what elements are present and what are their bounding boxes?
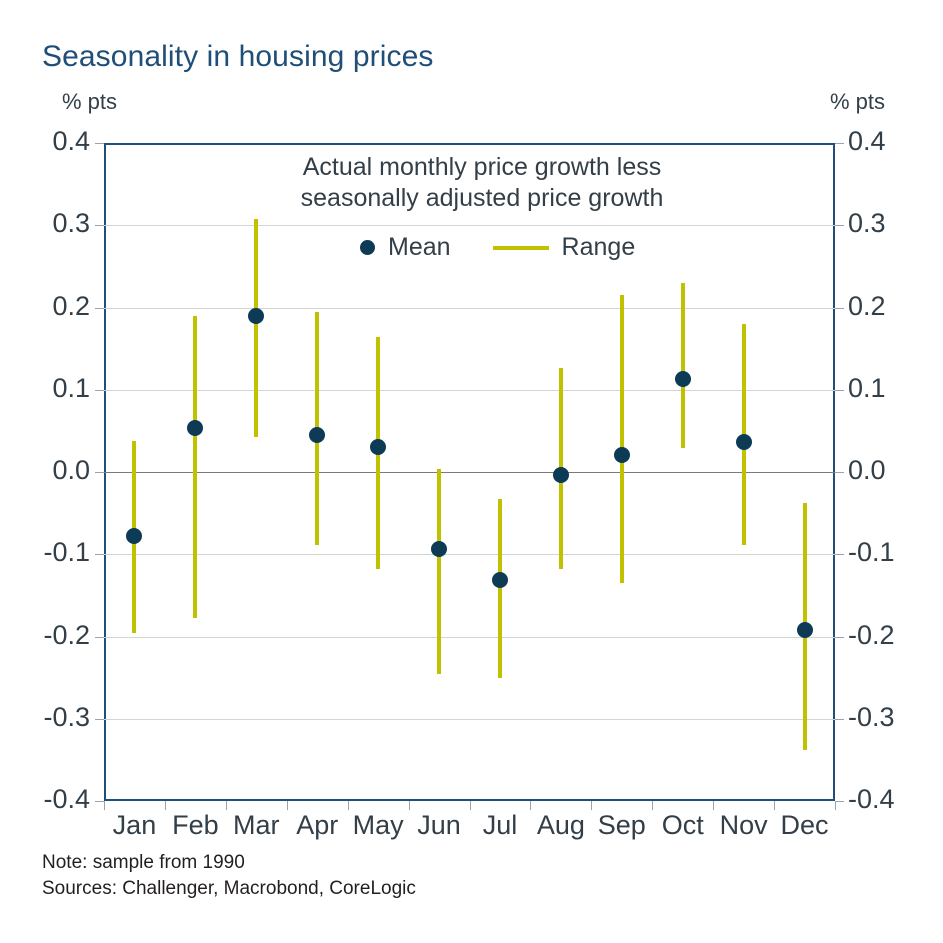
gridline: [104, 637, 835, 638]
x-axis-label-may: May: [353, 812, 404, 839]
mean-point-may: [370, 439, 386, 455]
x-axis-label-dec: Dec: [781, 812, 829, 839]
y-axis-tick-label-left: 0.0: [52, 457, 90, 484]
y-axis-unit-right: % pts: [830, 89, 885, 115]
y-axis-tick: [835, 719, 844, 720]
y-axis-tick-label-right: -0.3: [848, 704, 895, 731]
x-axis-tick: [287, 801, 288, 810]
y-axis-tick-label-right: 0.0: [848, 457, 886, 484]
y-axis-tick-label-left: -0.1: [43, 539, 90, 566]
y-axis-tick-label-left: -0.3: [43, 704, 90, 731]
mean-point-jul: [492, 572, 508, 588]
y-axis-tick-label-right: -0.4: [848, 786, 895, 813]
legend-range-label: Range: [562, 233, 636, 262]
y-axis-tick-label-left: 0.2: [52, 293, 90, 320]
range-bar-mar: [254, 219, 258, 437]
gridline: [104, 554, 835, 555]
mean-point-jun: [431, 541, 447, 557]
mean-point-mar: [248, 308, 264, 324]
annotation-line-2: seasonally adjusted price growth: [252, 183, 712, 214]
mean-point-feb: [187, 420, 203, 436]
y-axis-tick-label-left: -0.2: [43, 622, 90, 649]
gridline: [104, 719, 835, 720]
y-axis-tick-label-right: 0.1: [848, 375, 886, 402]
x-axis-tick: [774, 801, 775, 810]
gridline: [104, 390, 835, 391]
mean-point-apr: [309, 427, 325, 443]
y-axis-tick: [835, 472, 844, 473]
mean-point-aug: [553, 467, 569, 483]
y-axis-tick: [835, 225, 844, 226]
chart-annotation: Actual monthly price growth less seasona…: [252, 152, 712, 215]
x-axis-label-jun: Jun: [417, 812, 461, 839]
x-axis-tick: [530, 801, 531, 810]
x-axis-tick: [652, 801, 653, 810]
gridline: [104, 225, 835, 226]
y-axis-tick: [95, 719, 104, 720]
y-axis-unit-left: % pts: [62, 89, 117, 115]
gridline: [104, 308, 835, 309]
y-axis-tick-label-left: 0.3: [52, 210, 90, 237]
x-axis-tick: [226, 801, 227, 810]
mean-point-sep: [614, 447, 630, 463]
x-axis-label-aug: Aug: [537, 812, 585, 839]
mean-point-jan: [126, 528, 142, 544]
y-axis-tick: [835, 637, 844, 638]
y-axis-tick-label-left: 0.1: [52, 375, 90, 402]
y-axis-tick: [835, 143, 844, 144]
y-axis-tick: [835, 554, 844, 555]
annotation-line-1: Actual monthly price growth less: [252, 152, 712, 183]
y-axis-tick: [95, 637, 104, 638]
chart-legend: Mean Range: [360, 233, 635, 262]
range-bar-jun: [437, 469, 441, 674]
x-axis-tick: [348, 801, 349, 810]
y-axis-tick: [835, 801, 844, 802]
x-axis-tick: [713, 801, 714, 810]
x-axis-tick: [165, 801, 166, 810]
x-axis-tick: [835, 801, 836, 810]
y-axis-tick: [95, 308, 104, 309]
legend-mean-marker-icon: [360, 240, 375, 255]
x-axis-label-mar: Mar: [233, 812, 280, 839]
y-axis-tick: [95, 554, 104, 555]
y-axis-tick-label-right: -0.1: [848, 539, 895, 566]
range-bar-jul: [498, 499, 502, 677]
range-bar-feb: [193, 316, 197, 619]
mean-point-nov: [736, 434, 752, 450]
range-bar-oct: [681, 283, 685, 448]
y-axis-tick: [835, 308, 844, 309]
x-axis-tick: [409, 801, 410, 810]
footnote-sources: Sources: Challenger, Macrobond, CoreLogi…: [42, 876, 416, 902]
legend-range-marker-icon: [493, 246, 549, 250]
footnote-note: Note: sample from 1990: [42, 850, 416, 876]
chart-container: Seasonality in housing prices % pts % pt…: [0, 0, 943, 943]
y-axis-tick: [95, 472, 104, 473]
y-axis-tick-label-left: 0.4: [52, 128, 90, 155]
x-axis-label-jan: Jan: [113, 812, 157, 839]
y-axis-tick: [95, 390, 104, 391]
legend-mean-label: Mean: [388, 233, 451, 262]
page-title: Seasonality in housing prices: [42, 40, 433, 74]
x-axis-label-apr: Apr: [296, 812, 338, 839]
y-axis-tick-label-right: 0.4: [848, 128, 886, 155]
x-axis-tick: [104, 801, 105, 810]
x-axis-label-feb: Feb: [172, 812, 219, 839]
mean-point-oct: [675, 371, 691, 387]
x-axis-tick: [591, 801, 592, 810]
y-axis-tick-label-right: 0.3: [848, 210, 886, 237]
zero-line: [104, 472, 835, 473]
footnotes: Note: sample from 1990 Sources: Challeng…: [42, 850, 416, 902]
mean-point-dec: [797, 622, 813, 638]
y-axis-tick-label-right: -0.2: [848, 622, 895, 649]
x-axis-label-oct: Oct: [662, 812, 704, 839]
y-axis-tick-label-left: -0.4: [43, 786, 90, 813]
y-axis-tick: [95, 143, 104, 144]
y-axis-tick: [835, 390, 844, 391]
y-axis-tick: [95, 225, 104, 226]
range-bar-sep: [620, 295, 624, 583]
x-axis-label-sep: Sep: [598, 812, 646, 839]
y-axis-tick-label-right: 0.2: [848, 293, 886, 320]
y-axis-tick: [95, 801, 104, 802]
x-axis-label-nov: Nov: [720, 812, 768, 839]
x-axis-tick: [470, 801, 471, 810]
x-axis-label-jul: Jul: [483, 812, 518, 839]
